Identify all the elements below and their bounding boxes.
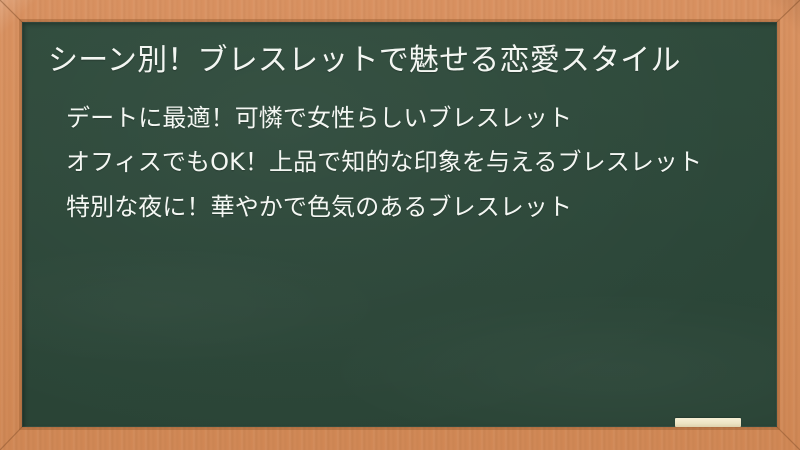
blackboard-content: シーン別！ブレスレットで魅せる恋愛スタイル デートに最適！可憐で女性らしいブレス… <box>22 22 777 427</box>
list-item: デートに最適！可憐で女性らしいブレスレット <box>66 101 746 136</box>
page-title: シーン別！ブレスレットで魅せる恋愛スタイル <box>48 40 748 83</box>
list-item: オフィスでもOK！上品で知的な印象を与えるブレスレット <box>66 145 746 180</box>
blackboard-card: シーン別！ブレスレットで魅せる恋愛スタイル デートに最適！可憐で女性らしいブレス… <box>0 0 800 450</box>
blackboard-surface: シーン別！ブレスレットで魅せる恋愛スタイル デートに最適！可憐で女性らしいブレス… <box>22 22 777 427</box>
topic-list: デートに最適！可憐で女性らしいブレスレット オフィスでもOK！上品で知的な印象を… <box>48 101 751 225</box>
list-item: 特別な夜に！華やかで色気のあるブレスレット <box>66 190 746 225</box>
chalk-stick-icon <box>675 418 741 427</box>
